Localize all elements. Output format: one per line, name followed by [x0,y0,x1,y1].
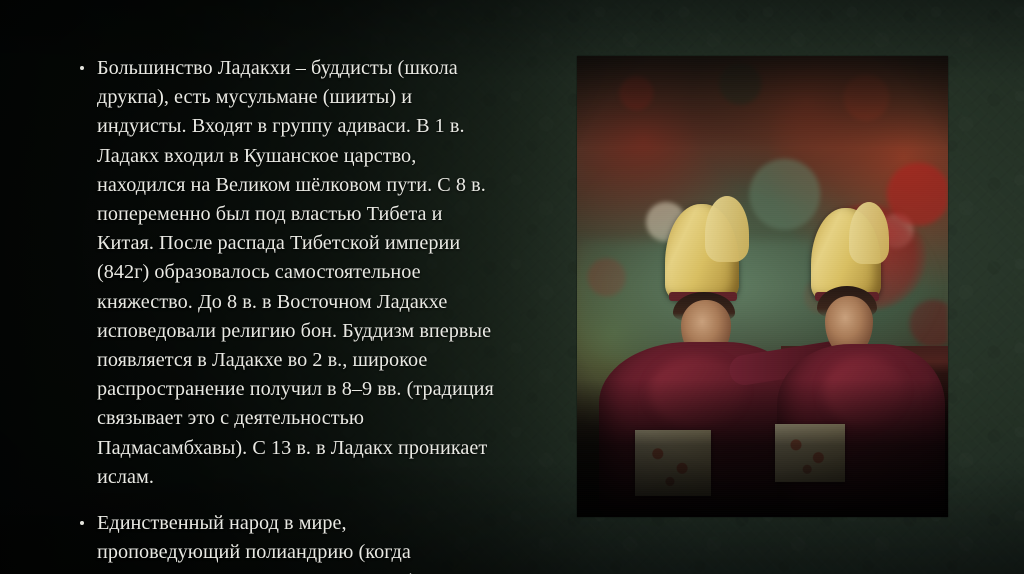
bullet-point-icon [80,521,84,525]
presentation-slide: Большинство Ладакхи – буддисты (школа др… [0,0,1024,574]
photo-vignette [577,56,948,517]
list-item: Единственный народ в мире, проповедующий… [74,509,494,574]
slide-photograph [577,56,948,517]
list-item-text: Большинство Ладакхи – буддисты (школа др… [97,57,494,488]
list-item-text: Единственный народ в мире, проповедующий… [97,512,421,574]
list-item: Большинство Ладакхи – буддисты (школа др… [74,54,494,492]
bullet-list: Большинство Ладакхи – буддисты (школа др… [74,54,494,574]
bullet-point-icon [80,66,84,70]
